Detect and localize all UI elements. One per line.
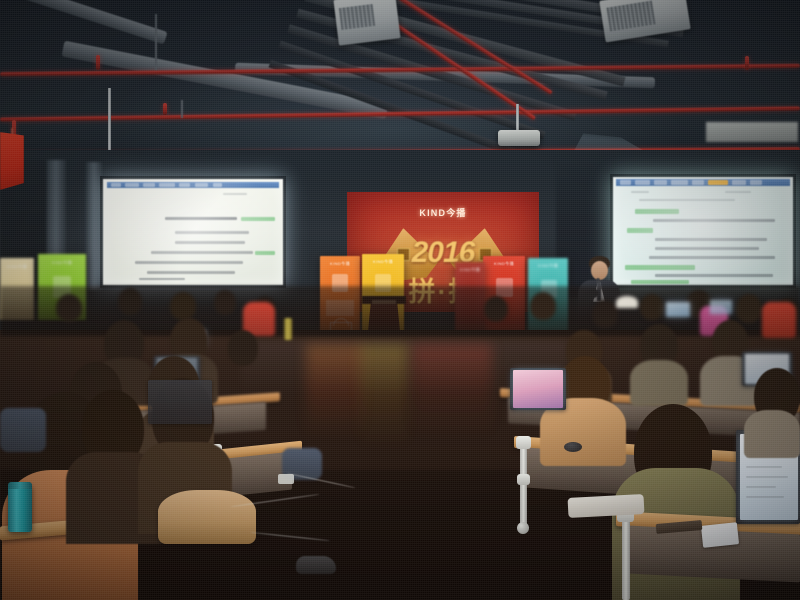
sprinkler-drop-1 bbox=[96, 55, 100, 70]
audience-body-mid bbox=[630, 360, 688, 406]
ceiling-projector-right bbox=[498, 130, 540, 146]
blue-backpack bbox=[0, 408, 46, 452]
audience-head-far bbox=[170, 292, 196, 320]
screen-left-toolbar-cell bbox=[213, 183, 222, 187]
projector-left-stem bbox=[108, 88, 111, 154]
banner-darkred-far-caption: KIND今播 bbox=[455, 267, 485, 273]
banner-orange-caption: KIND今播 bbox=[320, 261, 360, 267]
power-adapter bbox=[278, 474, 294, 484]
laptop-fg-doc-line bbox=[746, 486, 776, 488]
screen-right-doc-line bbox=[627, 228, 653, 233]
audience-head-far bbox=[56, 294, 82, 322]
sprinkler-drop-2 bbox=[163, 103, 167, 115]
screen-left-doc-line bbox=[151, 251, 253, 254]
audience-head-far bbox=[530, 292, 556, 320]
laptop-fg-doc-line bbox=[746, 496, 784, 498]
banner-cream-left-caption: KIND今播 bbox=[0, 264, 34, 270]
yellow-drink-bottle bbox=[284, 318, 292, 340]
screen-left-toolbar-cell bbox=[125, 183, 139, 187]
laptop-screen-far bbox=[666, 302, 690, 317]
banner-yellow-caption: KIND今播 bbox=[362, 259, 404, 265]
mouse-row2-right bbox=[564, 442, 582, 452]
screen-left-doc-line bbox=[165, 217, 237, 220]
shoe-in-aisle bbox=[296, 556, 336, 574]
screen-right-toolbar-cell bbox=[750, 180, 762, 185]
banner-red-right-caption: KIND今播 bbox=[483, 261, 525, 267]
white-smartphone bbox=[701, 522, 739, 548]
teal-thermos-cap bbox=[8, 482, 32, 489]
screen-right-doc-line bbox=[655, 238, 767, 241]
screen-right-doc-line bbox=[631, 280, 689, 284]
screen-right-doc-line bbox=[635, 209, 679, 214]
red-wall-flag bbox=[0, 132, 24, 190]
projection-screen-right bbox=[613, 177, 793, 285]
ceiling-light-strip bbox=[706, 122, 798, 142]
laptop-fg-doc-line bbox=[746, 466, 782, 468]
screen-left-toolbar-cell bbox=[179, 183, 190, 187]
screen-right-doc-line bbox=[653, 219, 775, 222]
stage-backdrop-logo: KIND今播 bbox=[347, 206, 539, 219]
laptop-fg-doc-line bbox=[746, 476, 788, 478]
banner-teal-right-caption: KIND今播 bbox=[528, 263, 568, 269]
banner-green-left-caption: KIND今播 bbox=[38, 260, 86, 266]
ceiling-rod-2 bbox=[181, 100, 183, 118]
screen-right-toolbar-cell bbox=[671, 180, 688, 185]
audience-white-cap bbox=[616, 296, 638, 308]
projection-screen-left bbox=[103, 179, 283, 285]
screen-right-toolbar-cell bbox=[692, 180, 704, 185]
audience-head-far bbox=[592, 300, 618, 328]
audience-head-far bbox=[736, 294, 762, 323]
screen-right-toolbar-cell bbox=[708, 180, 728, 185]
screen-right-toolbar-cell bbox=[654, 180, 667, 185]
screen-left-doc-line bbox=[255, 251, 275, 255]
screen-right-doc-line bbox=[625, 265, 695, 270]
screen-right-doc-line bbox=[655, 274, 773, 277]
ac-vent-right-grille bbox=[339, 4, 375, 30]
laptop-row1-left bbox=[148, 380, 212, 424]
screen-right-doc-line bbox=[649, 256, 775, 259]
chair-row1-center bbox=[158, 490, 256, 544]
screen-left-doc-line bbox=[139, 278, 185, 280]
screen-right-toolbar-cell bbox=[732, 180, 746, 185]
screen-right-toolbar-cell bbox=[620, 180, 631, 185]
teal-thermos bbox=[8, 484, 32, 532]
audience-head-mid bbox=[228, 330, 258, 366]
audience-head-far bbox=[214, 290, 236, 315]
screen-left-doc-line bbox=[175, 231, 249, 234]
screen-left-doc-line bbox=[223, 193, 247, 195]
screen-left-toolbar-cell bbox=[195, 183, 208, 187]
desk-leg-row1-right bbox=[622, 512, 630, 600]
audience-red-jacket-right bbox=[762, 302, 796, 338]
desk-joint-row2-right-2 bbox=[517, 474, 530, 485]
screen-left-doc-line bbox=[175, 241, 245, 244]
screen-right-doc-line bbox=[631, 191, 649, 193]
desk-caster-row2-right bbox=[517, 522, 529, 534]
screen-left-doc-line bbox=[135, 261, 243, 264]
audience-body-row2-rightmost bbox=[744, 410, 800, 458]
ceiling-rod bbox=[155, 14, 157, 70]
screen-left-toolbar-cell bbox=[111, 183, 121, 187]
screen-right-doc-line bbox=[655, 247, 759, 250]
sprinkler-drop-4 bbox=[745, 56, 749, 70]
laptop-screen-row2-right bbox=[513, 370, 563, 408]
screen-left-toolbar-cell bbox=[159, 183, 175, 187]
screen-right-doc-line bbox=[639, 199, 735, 201]
audience-head-far bbox=[484, 296, 508, 322]
screen-left-doc-line bbox=[147, 271, 235, 274]
screen-left-toolbar-cell bbox=[143, 183, 155, 187]
desk-joint-row2-right bbox=[516, 436, 531, 449]
audience-head-far bbox=[118, 288, 142, 315]
audience-head-far bbox=[640, 294, 664, 320]
screen-right-toolbar-cell bbox=[635, 180, 650, 185]
screen-right-doc-line bbox=[725, 191, 751, 193]
presenter-head bbox=[591, 261, 608, 280]
chair-row1-right bbox=[568, 494, 645, 518]
laptop-screen-far bbox=[710, 300, 732, 314]
conference-hall-photo: KIND今播 2016 拼·搏 KIND今播 KIND今播 KIND今播 KIN… bbox=[0, 0, 800, 600]
screen-left-doc-line bbox=[241, 217, 275, 221]
